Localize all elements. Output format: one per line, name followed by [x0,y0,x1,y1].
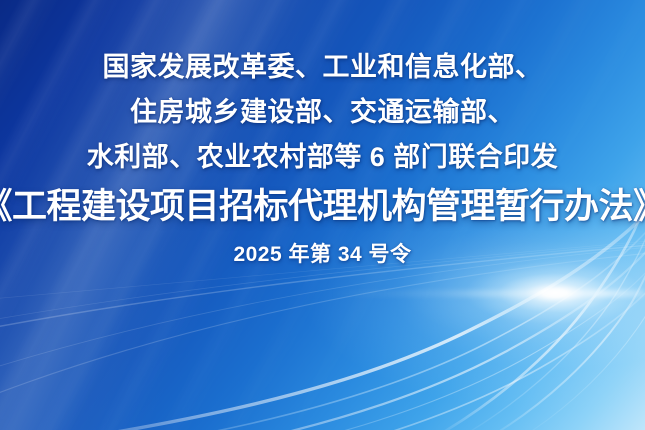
headline-line-3: 水利部、农业农村部等 6 部门联合印发 [87,144,559,171]
decree-number: 2025 年第 34 号令 [233,244,411,265]
headline-line-1: 国家发展改革委、工业和信息化部、 [103,54,543,81]
policy-announcement-banner: 国家发展改革委、工业和信息化部、 住房城乡建设部、交通运输部、 水利部、农业农村… [0,0,645,430]
document-title: 《工程建设项目招标代理机构管理暂行办法》 [0,189,645,224]
headline-line-2: 住房城乡建设部、交通运输部、 [130,99,515,126]
banner-content: 国家发展改革委、工业和信息化部、 住房城乡建设部、交通运输部、 水利部、农业农村… [0,0,645,430]
